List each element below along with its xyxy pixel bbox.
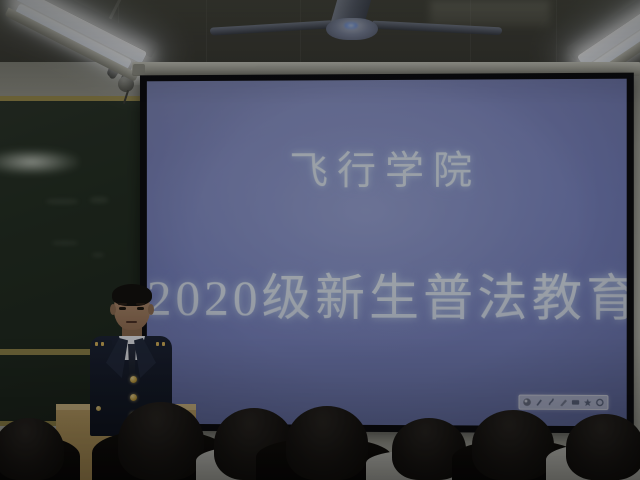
audience-head — [118, 402, 204, 480]
audience-head — [0, 418, 64, 480]
presenter-epaulette-right — [150, 340, 170, 348]
projection-screen-roller-end — [133, 64, 145, 75]
classroom-photo: 飞行学院 2020级新生普法教育 — [0, 0, 640, 480]
audience-head — [286, 406, 368, 480]
presenter-epaulette-left — [92, 340, 112, 348]
seated-audience — [0, 380, 640, 480]
audience-head — [472, 410, 554, 480]
ceiling-fan — [262, 2, 452, 58]
fan-led-icon — [344, 22, 358, 29]
slide-surface: 飞行学院 2020级新生普法教育 — [147, 79, 627, 427]
audience-head — [566, 414, 640, 480]
blackboard-glare — [0, 149, 79, 175]
slide-vignette — [147, 79, 627, 427]
